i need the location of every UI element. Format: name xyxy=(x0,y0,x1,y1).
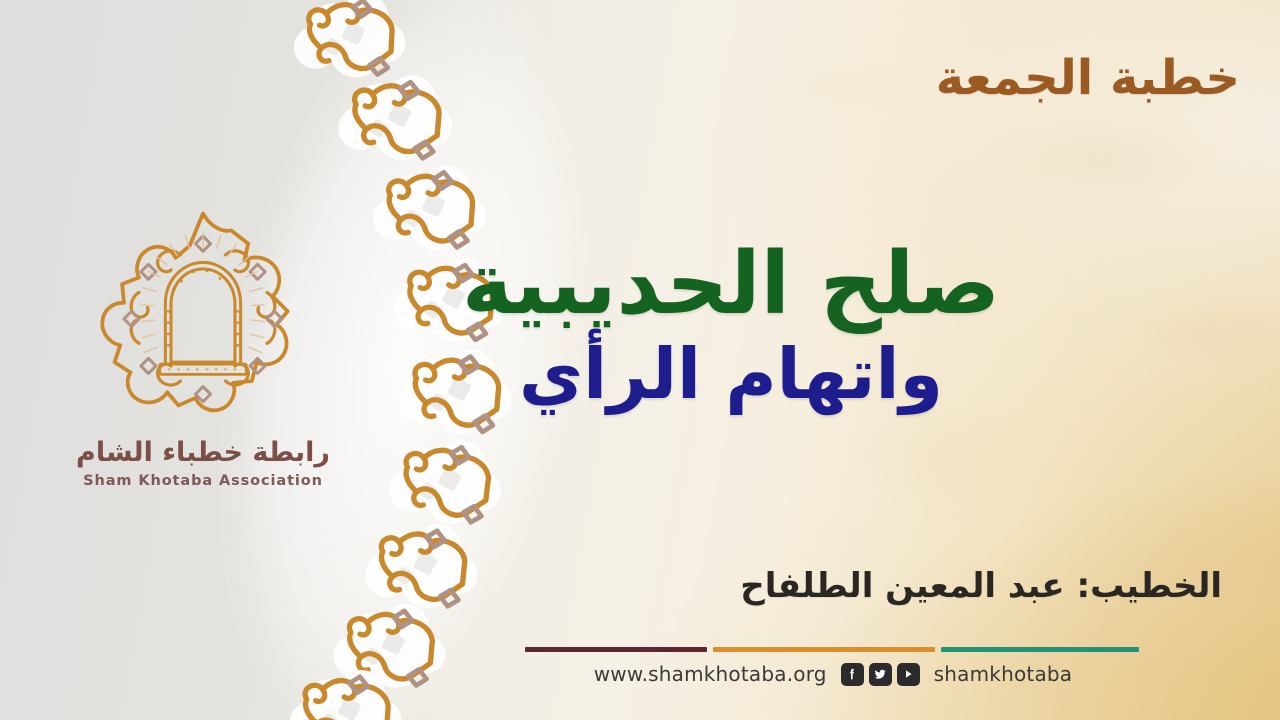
logo-name-arabic: رابطة خطباء الشام xyxy=(62,438,344,468)
divider-maroon xyxy=(525,647,707,652)
title-line-1: صلح الحديبية xyxy=(226,238,1236,331)
footer: www.shamkhotaba.org shamkhotaba xyxy=(525,657,1141,691)
speaker-name: الخطيب: عبد المعين الطلفاح xyxy=(740,566,1222,606)
twitter-icon[interactable] xyxy=(869,663,892,686)
title-line-2: واتهام الرأي xyxy=(226,335,1236,413)
social-icons xyxy=(841,663,920,686)
poster-kicker: خطبة الجمعة xyxy=(936,50,1240,106)
website-url[interactable]: www.shamkhotaba.org xyxy=(594,662,827,686)
sermon-poster: رابطة خطباء الشام Sham Khotaba Associati… xyxy=(0,0,1280,720)
social-handle[interactable]: shamkhotaba xyxy=(934,662,1073,686)
poster-title: صلح الحديبية واتهام الرأي xyxy=(226,238,1236,413)
logo-name-english: Sham Khotaba Association xyxy=(62,473,344,489)
divider-teal xyxy=(941,647,1139,652)
youtube-icon[interactable] xyxy=(897,663,920,686)
divider-orange xyxy=(713,647,935,652)
facebook-icon[interactable] xyxy=(841,663,864,686)
